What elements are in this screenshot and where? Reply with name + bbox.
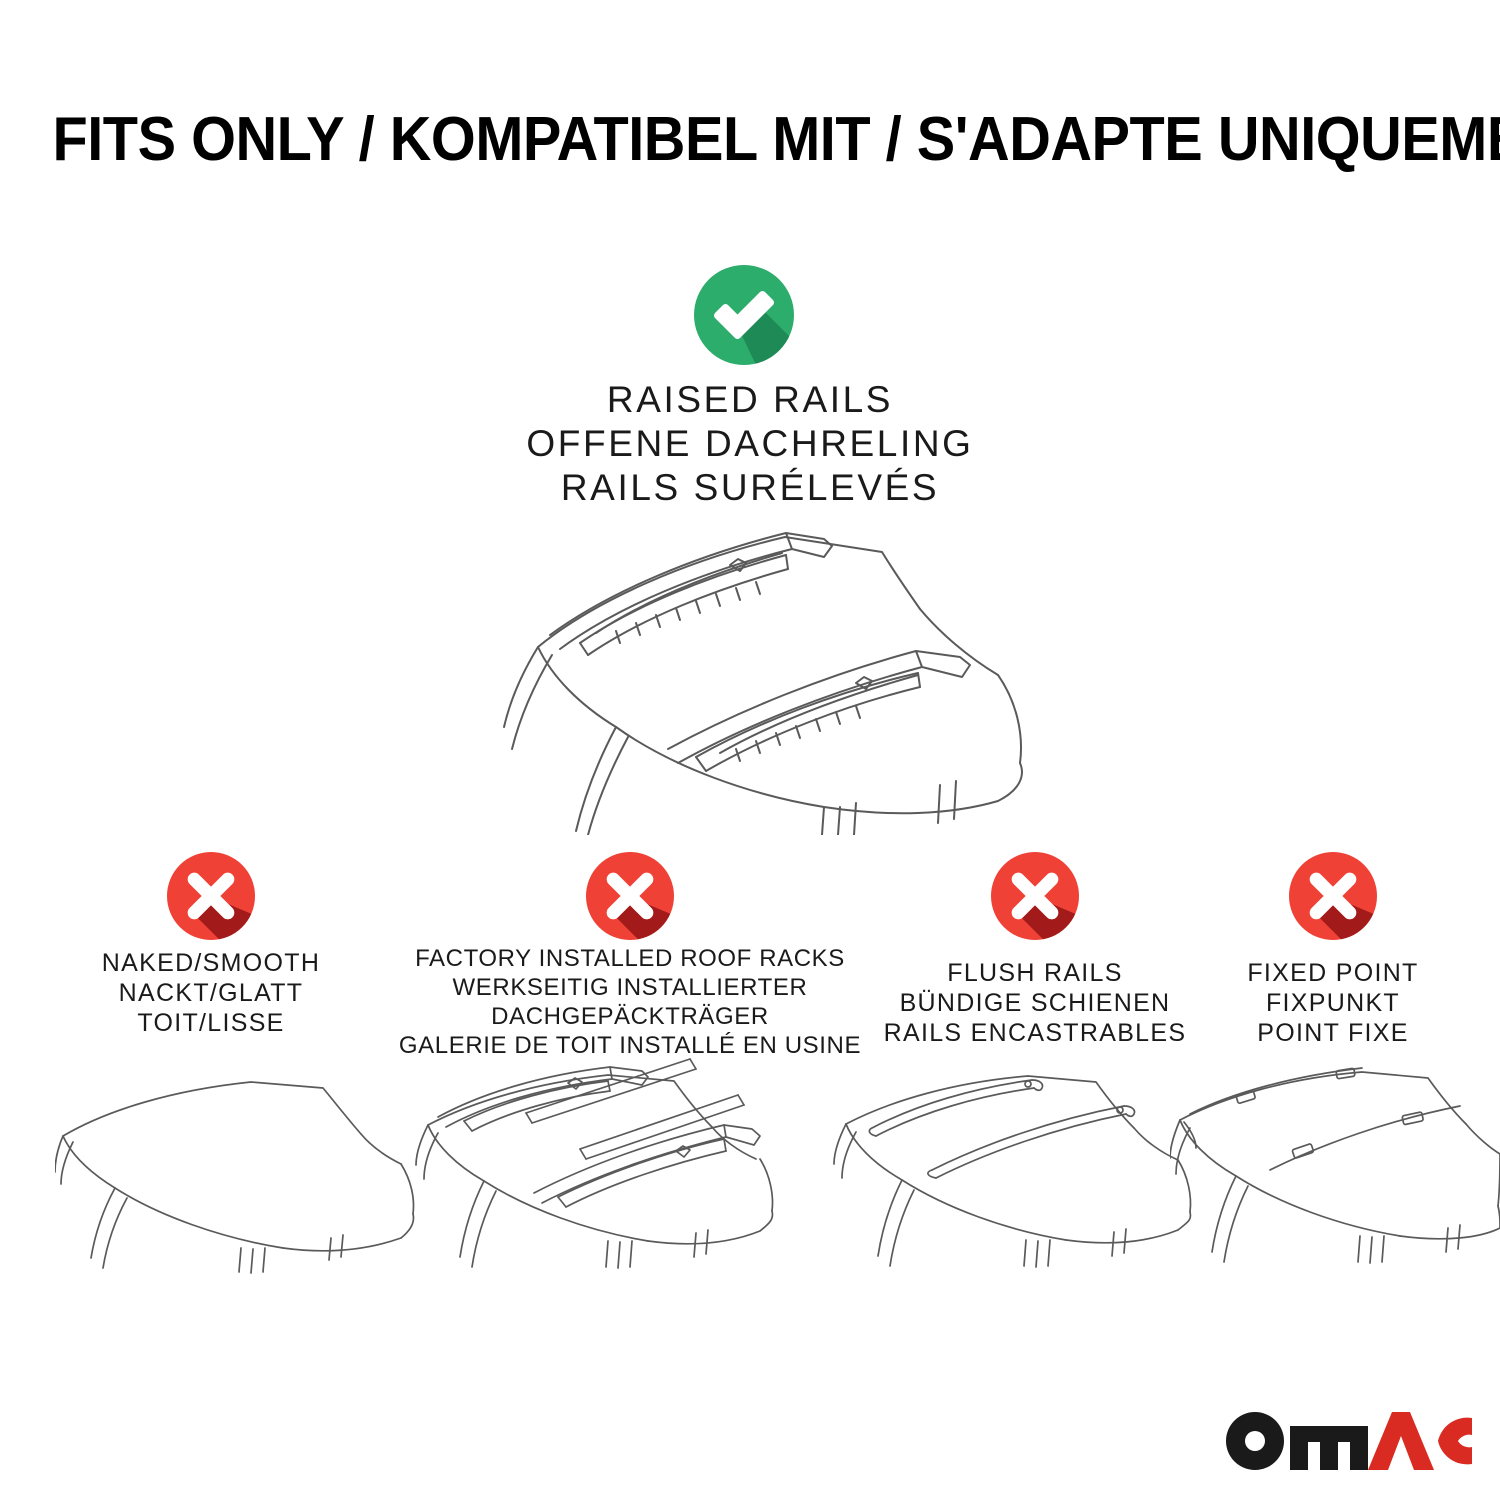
incompatible-badge-flush-rails: [991, 852, 1079, 940]
incompatible-label-naked-smooth: NAKED/SMOOTH NACKT/GLATT TOIT/LISSE: [46, 948, 376, 1038]
label-line-3: DACHGEPÄCKTRÄGER: [392, 1002, 868, 1031]
incompatible-badge-naked-smooth: [167, 852, 255, 940]
label-line-3: RAILS ENCASTRABLES: [855, 1018, 1215, 1048]
incompatible-label-flush-rails: FLUSH RAILS BÜNDIGE SCHIENEN RAILS ENCAS…: [855, 958, 1215, 1048]
label-line-3: POINT FIXE: [1193, 1018, 1473, 1048]
label-line-2: WERKSEITIG INSTALLIERTER: [392, 973, 868, 1002]
compatible-label-line-2: OFFENE DACHRELING: [450, 422, 1050, 466]
label-line-1: FACTORY INSTALLED ROOF RACKS: [392, 944, 868, 973]
illustration-naked-roof: [55, 1058, 415, 1293]
compatible-label-line-3: RAILS SURÉLEVÉS: [450, 466, 1050, 510]
omac-logo: [1222, 1404, 1472, 1478]
label-line-2: NACKT/GLATT: [46, 978, 376, 1008]
incompatible-label-factory-roof-racks: FACTORY INSTALLED ROOF RACKS WERKSEITIG …: [392, 944, 868, 1060]
cross-icon: [586, 852, 674, 940]
incompatible-badge-factory-roof-racks: [586, 852, 674, 940]
label-line-1: FIXED POINT: [1193, 958, 1473, 988]
compatible-label: RAISED RAILS OFFENE DACHRELING RAILS SUR…: [450, 378, 1050, 510]
label-line-1: FLUSH RAILS: [855, 958, 1215, 988]
infographic-canvas: FITS ONLY / KOMPATIBEL MIT / S'ADAPTE UN…: [0, 0, 1500, 1500]
illustration-factory-roof-rack: [408, 1055, 778, 1295]
cross-icon: [1289, 852, 1377, 940]
label-line-2: FIXPUNKT: [1193, 988, 1473, 1018]
omac-logo-mark: [1222, 1404, 1472, 1478]
compatible-label-line-1: RAISED RAILS: [450, 378, 1050, 422]
label-line-3: TOIT/LISSE: [46, 1008, 376, 1038]
cross-icon: [991, 852, 1079, 940]
label-line-1: NAKED/SMOOTH: [46, 948, 376, 978]
label-line-2: BÜNDIGE SCHIENEN: [855, 988, 1215, 1018]
compatible-badge: [694, 265, 794, 365]
incompatible-label-fixed-point: FIXED POINT FIXPUNKT POINT FIXE: [1193, 958, 1473, 1048]
cross-icon: [167, 852, 255, 940]
incompatible-badge-fixed-point: [1289, 852, 1377, 940]
illustration-flush-rails: [828, 1058, 1198, 1296]
illustration-raised-rails: [420, 505, 1090, 835]
page-title: FITS ONLY / KOMPATIBEL MIT / S'ADAPTE UN…: [53, 104, 1448, 176]
check-icon: [694, 265, 794, 365]
illustration-fixed-point: [1170, 1058, 1500, 1296]
